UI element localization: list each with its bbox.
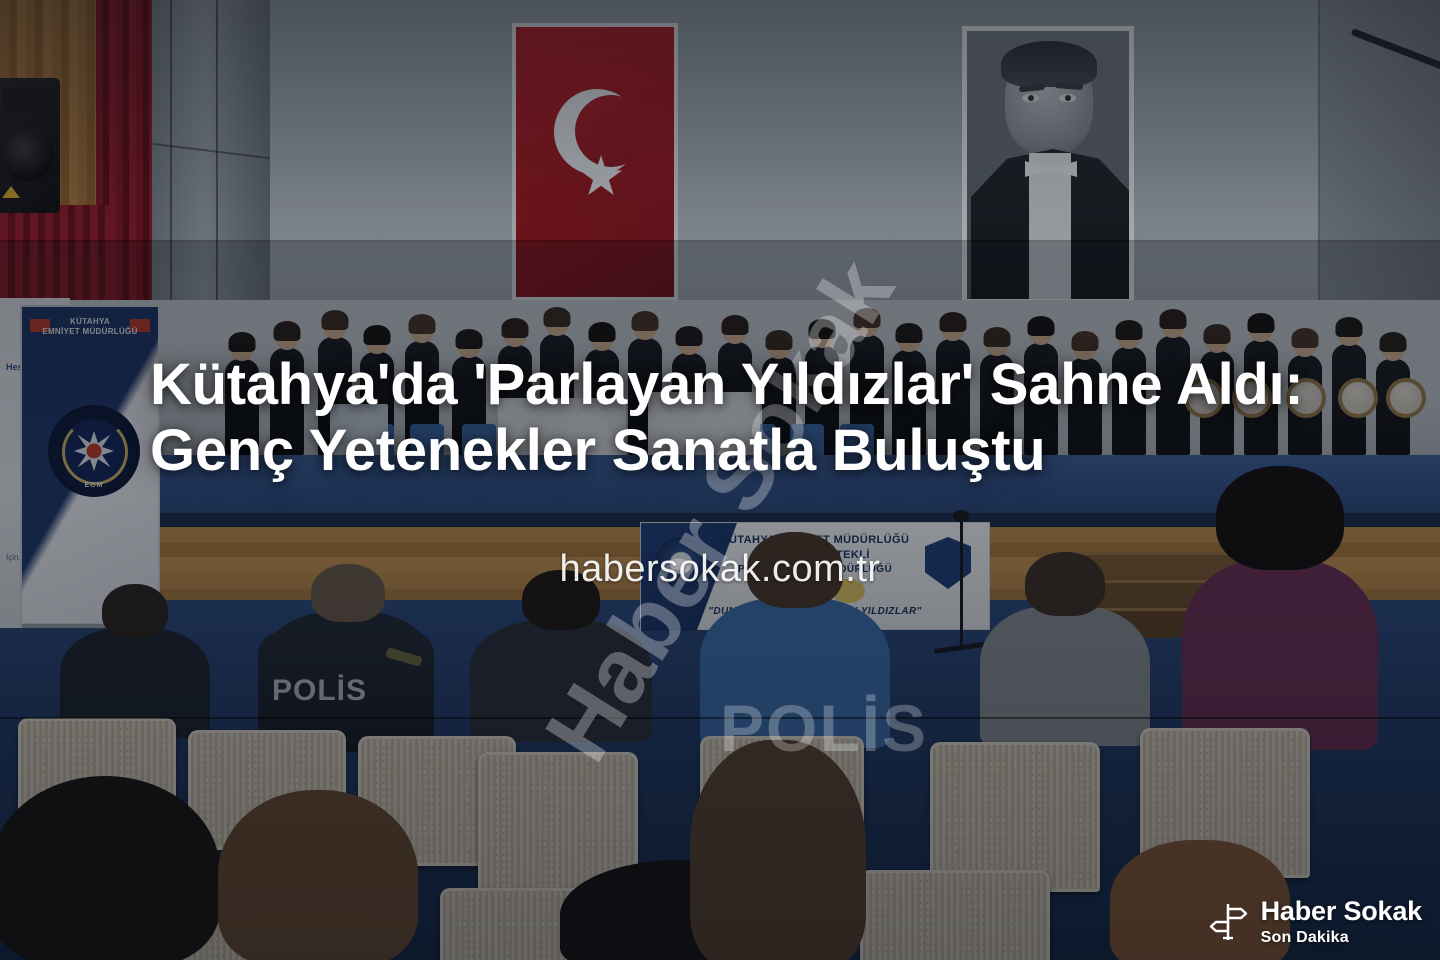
performer-hair bbox=[809, 319, 836, 339]
performer-hair bbox=[364, 325, 391, 345]
audience-head bbox=[1025, 552, 1105, 616]
performer-hair bbox=[502, 318, 529, 338]
performer-hair bbox=[632, 311, 659, 331]
turkish-flag bbox=[516, 27, 674, 297]
portrait-shirt bbox=[1029, 153, 1071, 299]
audience-member bbox=[470, 620, 652, 742]
foreground-attendee bbox=[1110, 840, 1290, 960]
performer bbox=[270, 348, 304, 455]
stage-table bbox=[648, 392, 760, 462]
performer-hair bbox=[1336, 317, 1363, 337]
speaker-horn bbox=[2, 88, 50, 114]
tambourine bbox=[1184, 378, 1224, 418]
ataturk-portrait bbox=[962, 26, 1134, 304]
performer-hair bbox=[1292, 328, 1319, 348]
performer-hair bbox=[722, 315, 749, 335]
tambourine bbox=[1386, 378, 1426, 418]
audience-head bbox=[1216, 466, 1344, 570]
lower-divider-line bbox=[0, 717, 1440, 719]
flag-crescent bbox=[554, 89, 640, 175]
band-divider-line bbox=[0, 240, 1440, 242]
pa-speaker bbox=[0, 78, 60, 213]
foreground-attendee bbox=[0, 776, 220, 960]
performer-hair bbox=[984, 327, 1011, 347]
microphone-stand bbox=[960, 520, 963, 646]
performer bbox=[1112, 347, 1146, 455]
tambourine bbox=[1286, 378, 1326, 418]
performer-hair bbox=[1380, 332, 1407, 352]
performer-hair bbox=[896, 323, 923, 343]
performer-hair bbox=[940, 312, 967, 332]
performer-hair bbox=[322, 310, 349, 330]
police-rollup-banner: KÜTAHYA EMNİYET MÜDÜRLÜĞÜ EGM bbox=[20, 305, 160, 625]
performer-hair bbox=[409, 314, 436, 334]
performer bbox=[892, 350, 926, 455]
shoulder-insignia bbox=[385, 647, 422, 667]
performer-hair bbox=[1204, 324, 1231, 344]
police-emblem-icon: EGM bbox=[48, 405, 140, 497]
performer-hair bbox=[1072, 331, 1099, 351]
performer-hair bbox=[1248, 313, 1275, 333]
performer bbox=[225, 359, 259, 455]
photo-scene: KÜTAHYA EMNİYET MÜDÜRLÜĞÜ TOPLUM DESTEKL… bbox=[0, 0, 1440, 960]
performer bbox=[980, 354, 1014, 455]
pillar-line bbox=[170, 0, 172, 330]
tambourine bbox=[1232, 378, 1272, 418]
performer bbox=[936, 339, 970, 455]
performer-hair bbox=[544, 307, 571, 327]
portrait-photo bbox=[967, 31, 1129, 299]
speaker-cone bbox=[2, 130, 54, 182]
emblem-label: EGM bbox=[51, 482, 137, 489]
vest-label: POLİS bbox=[272, 674, 367, 708]
performer bbox=[1068, 358, 1102, 455]
rollup-title-line2: EMNİYET MÜDÜRLÜĞÜ bbox=[42, 327, 137, 336]
speaker-brand-badge bbox=[2, 186, 20, 198]
performer-hair bbox=[456, 329, 483, 349]
tambourine bbox=[1338, 378, 1378, 418]
performer-hair bbox=[676, 326, 703, 346]
performer-hair bbox=[589, 322, 616, 342]
emblem-center bbox=[87, 444, 102, 459]
performer-hair bbox=[274, 321, 301, 341]
stage-table bbox=[330, 404, 388, 460]
performer-hair bbox=[1028, 316, 1055, 336]
foreground-attendee bbox=[218, 790, 418, 960]
audience-head bbox=[747, 532, 843, 608]
wall-pillar bbox=[152, 0, 270, 330]
audience-member bbox=[700, 598, 890, 748]
news-image-card: KÜTAHYA EMNİYET MÜDÜRLÜĞÜ TOPLUM DESTEKL… bbox=[0, 0, 1440, 960]
rollup-title-line1: KÜTAHYA bbox=[70, 317, 110, 326]
pillar-line bbox=[216, 0, 218, 330]
performer-hair bbox=[1116, 320, 1143, 340]
performer-hair bbox=[1160, 309, 1187, 329]
plastic-chair bbox=[860, 870, 1050, 960]
audience-member bbox=[980, 606, 1150, 746]
audience-member bbox=[1182, 560, 1378, 750]
portrait-eye bbox=[1022, 94, 1039, 102]
audience-head bbox=[522, 570, 600, 630]
foreground-attendee bbox=[690, 740, 866, 960]
performer-hair bbox=[854, 308, 881, 328]
performer bbox=[1024, 343, 1058, 455]
portrait-hair bbox=[1001, 41, 1097, 87]
audience-head bbox=[311, 564, 385, 622]
performer-hair bbox=[766, 330, 793, 350]
rollup-title: KÜTAHYA EMNİYET MÜDÜRLÜĞÜ bbox=[22, 317, 158, 337]
portrait-eye bbox=[1059, 94, 1076, 102]
audience-head bbox=[102, 584, 168, 638]
performer-hair bbox=[229, 332, 256, 352]
